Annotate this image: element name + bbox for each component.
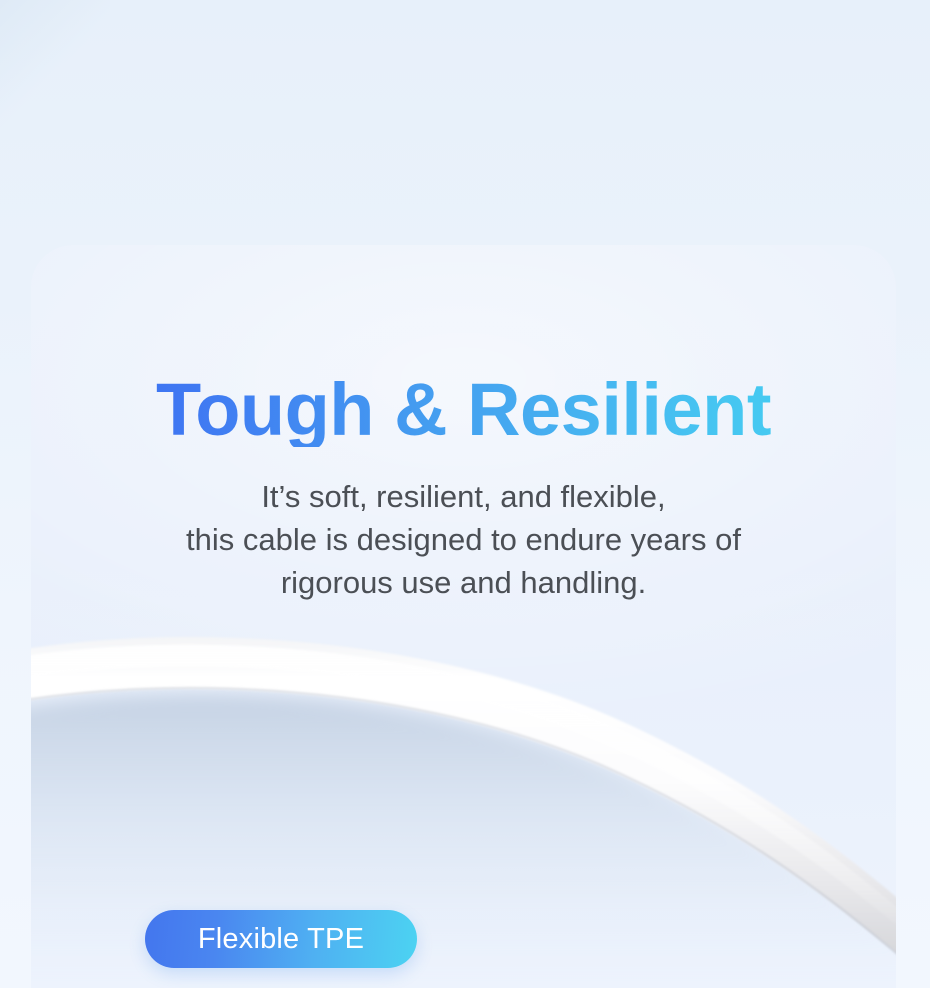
feature-badge-flexible-tpe: Flexible TPE: [145, 910, 417, 968]
hero-description: It’s soft, resilient, and flexible, this…: [31, 447, 896, 604]
feature-badge-label: Flexible TPE: [198, 925, 364, 954]
hero-text-block: Tough & Resilient It’s soft, resilient, …: [31, 373, 896, 604]
hero-description-line-3: rigorous use and handling.: [31, 561, 896, 604]
hero-description-line-1: It’s soft, resilient, and flexible,: [31, 475, 896, 518]
cable-highlight: [31, 645, 896, 952]
feature-card: Tough & Resilient It’s soft, resilient, …: [31, 245, 896, 988]
page-title: Tough & Resilient: [31, 373, 896, 447]
corner-sheen-decoration: [0, 0, 110, 140]
product-feature-banner: Tough & Resilient It’s soft, resilient, …: [0, 0, 930, 988]
cable-illustration: [31, 245, 896, 988]
hero-description-line-2: this cable is designed to endure years o…: [31, 518, 896, 561]
card-glow-decoration: [31, 245, 896, 988]
